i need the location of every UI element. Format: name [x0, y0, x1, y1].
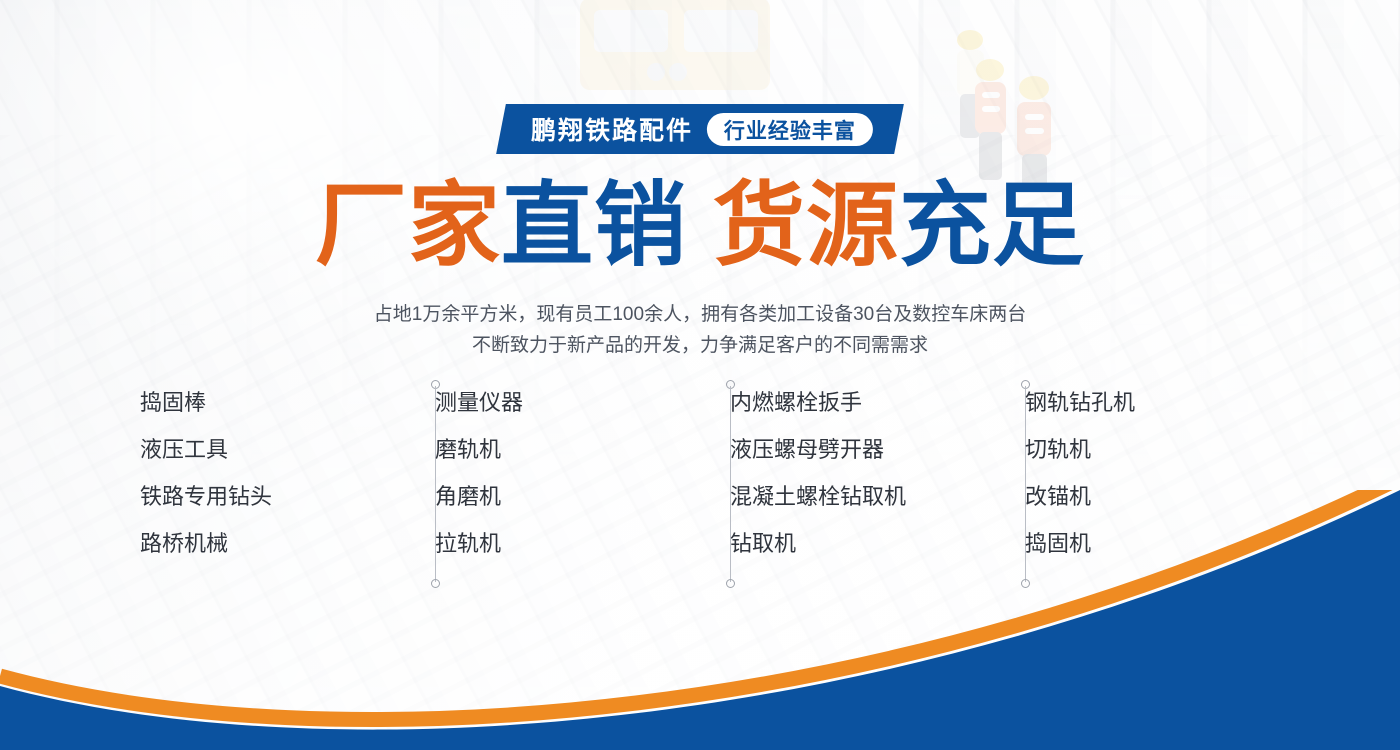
brand-tag-pill: 行业经验丰富 [707, 113, 873, 146]
brand-tag-title: 鹏翔铁路配件 [531, 111, 693, 147]
product-item[interactable]: 磨轨机 [435, 439, 708, 461]
product-item[interactable]: 液压螺母劈开器 [730, 439, 1003, 461]
subtitle-line-1: 占地1万余平方米，现有员工100余人，拥有各类加工设备30台及数控车床两台 [0, 300, 1400, 331]
promotional-banner: 鹏翔铁路配件 行业经验丰富 厂家直销货源充足 占地1万余平方米，现有员工100余… [0, 0, 1400, 750]
headline-part2-orange: 货源 [713, 175, 899, 277]
brand-tag: 鹏翔铁路配件 行业经验丰富 [496, 104, 904, 154]
subtitle-line-2: 不断致力于新产品的开发，力争满足客户的不同需需求 [0, 331, 1400, 362]
headline-part1-orange: 厂家 [315, 175, 501, 277]
product-item[interactable]: 测量仪器 [435, 392, 708, 414]
product-item[interactable]: 钢轨钻孔机 [1025, 392, 1298, 414]
product-item[interactable]: 液压工具 [140, 439, 413, 461]
brand-tag-container: 鹏翔铁路配件 行业经验丰富 [0, 104, 1400, 154]
product-item[interactable]: 捣固棒 [140, 392, 413, 414]
product-item[interactable]: 切轨机 [1025, 439, 1298, 461]
product-item[interactable]: 内燃螺栓扳手 [730, 392, 1003, 414]
headline-part2-blue: 充足 [899, 175, 1085, 277]
bottom-wave-decoration [0, 490, 1400, 750]
headline-part1-blue: 直销 [501, 175, 687, 277]
headline: 厂家直销货源充足 [0, 178, 1400, 276]
subtitle: 占地1万余平方米，现有员工100余人，拥有各类加工设备30台及数控车床两台 不断… [0, 300, 1400, 362]
